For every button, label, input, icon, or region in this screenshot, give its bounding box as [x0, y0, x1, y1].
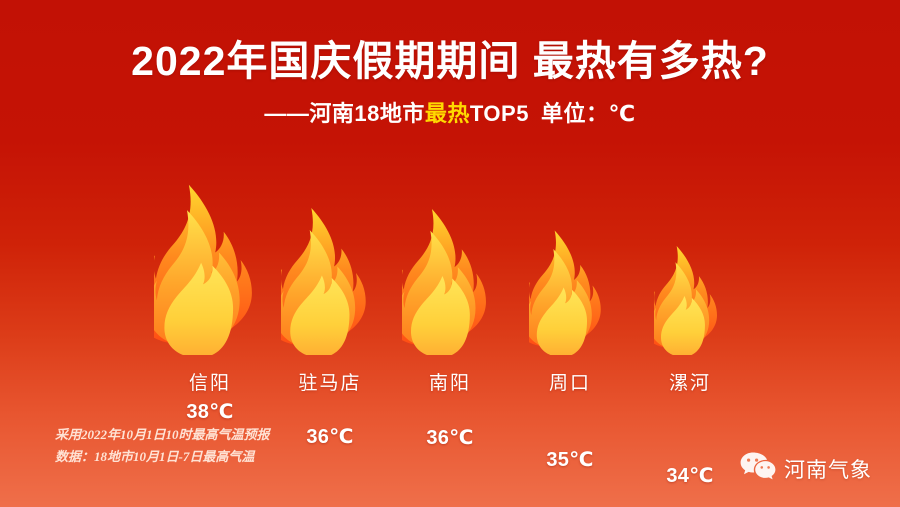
city-label: 驻马店: [270, 368, 390, 395]
city-label: 南阳: [390, 368, 510, 395]
flame-icon: [150, 180, 270, 355]
temperature-label: 36℃: [390, 425, 510, 450]
wechat-icon: [740, 452, 776, 485]
temperature-label: 36℃: [270, 424, 390, 449]
city-label: 信阳: [150, 368, 270, 395]
wechat-badge: 河南气象: [740, 452, 872, 485]
page-title: 2022年国庆假期期间 最热有多热?: [0, 36, 900, 86]
subtitle-middle: TOP5: [470, 101, 529, 126]
page-subtitle: ——河南18地市最热TOP5单位：℃: [0, 99, 900, 129]
subtitle-prefix: ——河南18地市: [264, 101, 424, 126]
city-label: 周口: [510, 368, 630, 395]
temperature-label: 34℃: [630, 463, 750, 488]
subtitle-suffix: 单位：℃: [541, 101, 636, 126]
infographic-poster: 2022年国庆假期期间 最热有多热? ——河南18地市最热TOP5单位：℃ 38…: [0, 0, 900, 507]
flame-icon: [270, 204, 390, 355]
flame-icon: [510, 227, 630, 355]
flame-icon: [390, 205, 510, 355]
temperature-label: 35℃: [510, 447, 630, 472]
footnote-line-1: 采用2022年10月1日10时最高气温预报: [55, 424, 270, 446]
footnote-line-2: 数据：18地市10月1日-7日最高气温: [55, 446, 270, 468]
subtitle-highlight: 最热: [425, 101, 470, 126]
footnote: 采用2022年10月1日10时最高气温预报 数据：18地市10月1日-7日最高气…: [55, 424, 270, 468]
temperature-label: 38℃: [150, 399, 270, 424]
flame-chart: 38℃: [150, 160, 750, 395]
wechat-account-name: 河南气象: [784, 454, 872, 484]
flame-icon: [630, 243, 750, 355]
city-label: 漯河: [630, 368, 750, 395]
